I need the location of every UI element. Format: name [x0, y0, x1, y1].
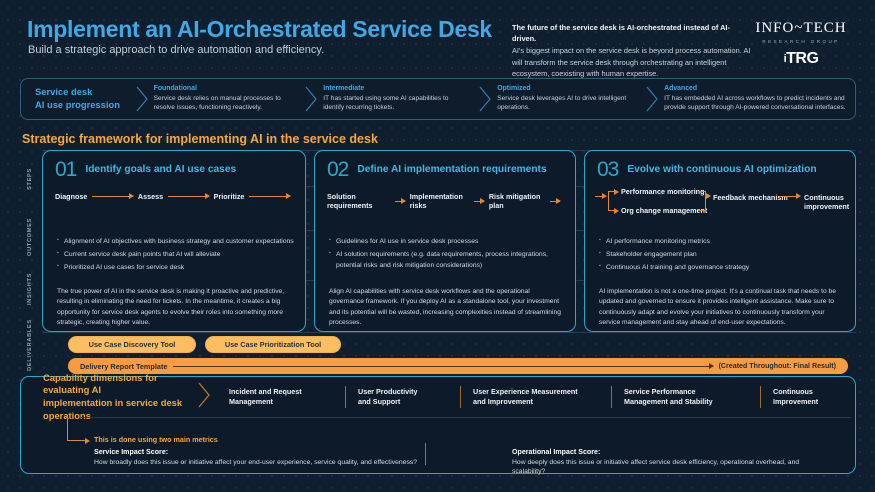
logo-itrg-trg: TRG: [786, 50, 818, 67]
step-item: Feedback mechanism: [713, 193, 788, 202]
arrow-head-icon: [614, 189, 619, 195]
metric-service-impact-score: Service Impact Score: How broadly does t…: [94, 448, 494, 477]
metric-desc: How broadly does this issue or initiativ…: [94, 458, 494, 468]
arrow-head-icon: [85, 438, 90, 444]
deliverables-row: Use Case Discovery Tool Use Case Priorit…: [42, 336, 856, 372]
chevron-right-icon: [300, 86, 323, 112]
delivery-report-end-label: (Created Throughout: Final Result): [719, 362, 836, 370]
framework-panel-01: 01 Identify goals and AI use cases Diagn…: [42, 150, 306, 332]
dimension-line1: User Productivity: [358, 387, 450, 397]
dimension-line2: Management: [229, 397, 335, 407]
rail-label-insights: INSIGHTS: [27, 263, 33, 315]
elbow-connector-icon: [67, 417, 87, 441]
capability-title-line2: implementation in service desk operation…: [43, 397, 192, 422]
capability-dimension: User Experience Measurement and Improvem…: [461, 387, 601, 408]
dimension-line1: Service Performance: [624, 387, 750, 397]
step-item: Assess: [138, 192, 163, 201]
insight-text: Align AI capabilities with service desk …: [329, 287, 563, 329]
panel-title: Define AI implementation requirements: [357, 164, 546, 175]
header: Implement an AI-Orchestrated Service Des…: [0, 0, 875, 72]
list-item: Current service desk pain points that AI…: [57, 250, 295, 261]
list-item: Guidelines for AI use in service desk pr…: [329, 237, 565, 248]
list-item: Stakeholder engagement plan: [599, 250, 845, 261]
capability-dimension: Incident and Request Management: [217, 387, 335, 408]
progression-label-line1: Service desk: [35, 86, 131, 99]
list-item: Prioritized AI use cases for service des…: [57, 263, 295, 274]
panel-number: 01: [55, 159, 76, 180]
arrow-right-icon: [92, 196, 133, 197]
metric-name: Service Impact Score:: [94, 448, 494, 456]
dimension-line2: Improvement: [773, 397, 857, 407]
stage-desc: Service desk leverages AI to drive intel…: [497, 94, 637, 113]
list-item: Continuous AI training and governance st…: [599, 263, 845, 274]
step-item: Diagnose: [55, 192, 87, 201]
strategic-framework: STEPS OUTCOMES INSIGHTS DELIVERABLES 01 …: [20, 150, 856, 372]
step-item: Solution requirements: [327, 192, 390, 210]
capability-dimensions-panel: Capability dimensions for evaluating AI …: [20, 376, 856, 474]
outcomes-list: AI performance monitoring metrics Stakeh…: [599, 237, 845, 276]
page-subtitle: Build a strategic approach to drive auto…: [28, 44, 324, 56]
stage-title: Intermediate: [323, 85, 470, 92]
dimension-line1: User Experience Measurement: [473, 387, 601, 397]
list-item: Alignment of AI objectives with business…: [57, 237, 295, 248]
panel-header: 02 Define AI implementation requirements: [327, 159, 547, 180]
framework-panel-02: 02 Define AI implementation requirements…: [314, 150, 576, 332]
framework-panel-03: 03 Evolve with continuous AI optimizatio…: [584, 150, 856, 332]
logo-itrg-text: iTRG: [745, 50, 857, 68]
insight-text: The true power of AI in the service desk…: [57, 287, 293, 329]
capability-title: Capability dimensions for evaluating AI …: [21, 372, 192, 423]
step-item: Performance monitoring: [621, 187, 704, 196]
framework-section-title: Strategic framework for implementing AI …: [22, 132, 378, 146]
stage-desc: IT has started using some AI capabilitie…: [323, 94, 470, 113]
chevron-right-icon: [474, 86, 497, 112]
progression-stage-intermediate: Intermediate IT has started using some A…: [323, 85, 474, 113]
stage-desc: IT has embedded AI across workflows to p…: [664, 94, 851, 113]
header-callout-body: AI's biggest impact on the service desk …: [512, 45, 752, 78]
arrow-head-icon: [602, 193, 607, 199]
capability-dimension-list: Incident and Request Management User Pro…: [217, 386, 857, 408]
stage-title: Foundational: [154, 85, 297, 92]
panel-header: 01 Identify goals and AI use cases: [55, 159, 236, 180]
ai-use-progression-bar: Service desk AI use progression Foundati…: [20, 78, 856, 120]
divider: [425, 443, 426, 465]
progression-stage-foundational: Foundational Service desk relies on manu…: [154, 85, 301, 113]
arrow-right-icon: [550, 201, 560, 202]
panel-title: Evolve with continuous AI optimization: [627, 164, 816, 175]
list-item: AI performance monitoring metrics: [599, 237, 845, 248]
dimension-line2: and Improvement: [473, 397, 601, 407]
chevron-right-icon: [192, 381, 217, 414]
capability-dimension: Continuous Improvement: [761, 387, 857, 408]
arrow-right-icon: [168, 196, 209, 197]
dimension-line1: Incident and Request: [229, 387, 335, 397]
header-callout: The future of the service desk is AI-orc…: [512, 23, 752, 79]
capability-title-line1: Capability dimensions for evaluating AI: [43, 372, 192, 397]
capability-dimension: User Productivity and Support: [346, 387, 450, 408]
logo-research-group-text: RESEARCH GROUP: [745, 39, 857, 44]
rail-label-outcomes: OUTCOMES: [27, 211, 33, 263]
progression-stage-advanced: Advanced IT has embedded AI across workf…: [664, 85, 855, 113]
capability-header-row: Capability dimensions for evaluating AI …: [21, 377, 857, 417]
arrow-right-icon: [249, 196, 290, 197]
capability-dimension: Service Performance Management and Stabi…: [612, 387, 750, 408]
progression-label: Service desk AI use progression: [21, 86, 131, 111]
arrow-right-icon: [395, 201, 405, 202]
steps-row: Performance monitoring Org change manage…: [595, 187, 847, 231]
metric-desc: How deeply does this issue or initiative…: [512, 458, 834, 478]
arrow-right-icon: [173, 366, 712, 367]
progression-label-line2: AI use progression: [35, 99, 131, 112]
brand-logo: INFO~TECH RESEARCH GROUP iTRG: [745, 20, 857, 68]
metric-operational-impact-score: Operational Impact Score: How deeply doe…: [494, 448, 834, 477]
arrow-head-icon: [706, 193, 711, 199]
panel-title: Identify goals and AI use cases: [85, 164, 236, 175]
divider: [81, 417, 851, 418]
page-title: Implement an AI-Orchestrated Service Des…: [27, 16, 492, 43]
logo-infotech-text: INFO~TECH: [745, 20, 857, 37]
arrow-head-icon: [614, 208, 619, 214]
divider: [42, 332, 856, 333]
arrow-right-icon: [474, 201, 484, 202]
stage-title: Advanced: [664, 85, 851, 92]
panel-header: 03 Evolve with continuous AI optimizatio…: [597, 159, 817, 180]
panel-number: 02: [327, 159, 348, 180]
step-item: Continuous improvement: [804, 193, 849, 211]
chevron-right-icon: [131, 86, 154, 112]
metric-name: Operational Impact Score:: [512, 448, 834, 456]
rail-label-steps: STEPS: [27, 153, 33, 205]
header-callout-lead: The future of the service desk is AI-orc…: [512, 23, 752, 44]
steps-row: Diagnose Assess Prioritize: [55, 192, 295, 201]
progression-stage-optimized: Optimized Service desk leverages AI to d…: [497, 85, 641, 113]
list-item: AI solution requirements (e.g. data requ…: [329, 250, 565, 271]
poster-root: Implement an AI-Orchestrated Service Des…: [0, 0, 875, 492]
step-item: Prioritize: [214, 192, 245, 201]
outcomes-list: Guidelines for AI use in service desk pr…: [329, 237, 565, 274]
use-case-prioritization-tool-button[interactable]: Use Case Prioritization Tool: [205, 336, 341, 353]
stage-title: Optimized: [497, 85, 637, 92]
arrow-head-icon: [796, 193, 801, 199]
chevron-right-icon: [641, 86, 664, 112]
row-label-rail: STEPS OUTCOMES INSIGHTS DELIVERABLES: [20, 150, 42, 372]
merge-bracket-icon: [699, 191, 706, 211]
rail-label-deliverables: DELIVERABLES: [27, 319, 33, 371]
metrics-row: Service Impact Score: How broadly does t…: [94, 448, 844, 477]
step-item: Implementation risks: [410, 192, 469, 210]
dimension-line1: Continuous: [773, 387, 857, 397]
outcomes-list: Alignment of AI objectives with business…: [57, 237, 295, 276]
steps-row: Solution requirements Implementation ris…: [327, 192, 565, 210]
metrics-lead-text: This is done using two main metrics: [94, 435, 218, 444]
panel-number: 03: [597, 159, 618, 180]
step-item: Org change management: [621, 206, 707, 215]
dimension-line2: and Support: [358, 397, 450, 407]
step-item: Risk mitigation plan: [489, 192, 545, 210]
stage-desc: Service desk relies on manual processes …: [154, 94, 297, 113]
dimension-line2: Management and Stability: [624, 397, 750, 407]
use-case-discovery-tool-button[interactable]: Use Case Discovery Tool: [68, 336, 196, 353]
delivery-report-label: Delivery Report Template: [80, 362, 167, 371]
insight-text: AI implementation is not a one-time proj…: [599, 287, 843, 329]
